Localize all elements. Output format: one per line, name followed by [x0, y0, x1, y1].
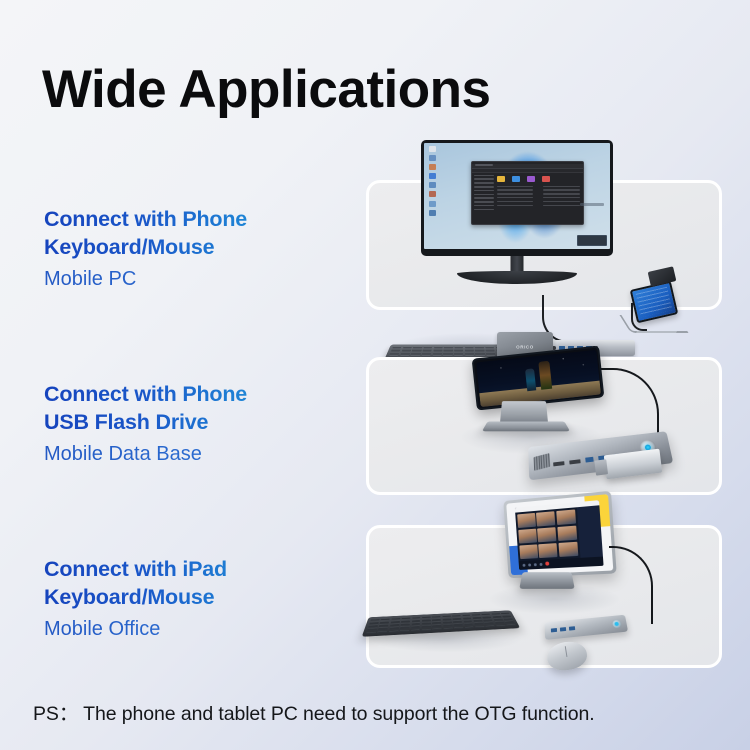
application-2-headline-line2: USB Flash Drive: [44, 408, 354, 436]
participant-tile: [557, 525, 577, 541]
system-tray-popup: [577, 235, 607, 246]
application-3-headline-line1: Connect with iPad: [44, 555, 354, 583]
application-3-subtitle: Mobile Office: [44, 614, 354, 644]
application-image-1: [366, 180, 722, 310]
participant-tile: [519, 544, 538, 559]
explorer-content: [494, 173, 583, 225]
application-1-headline-line2: Keyboard/Mouse: [44, 233, 354, 261]
explorer-sidebar: [472, 173, 494, 225]
orico-logo: ORICO: [516, 345, 534, 350]
participant-tile: [536, 511, 555, 527]
scene-phone-flashdrive: ORICO: [369, 360, 719, 492]
application-1-headline-line1: Connect with Phone: [44, 205, 354, 233]
participant-tile: [537, 527, 556, 543]
participant-grid: [516, 507, 580, 561]
participant-tile: [558, 541, 578, 557]
application-text-2: Connect with Phone USB Flash Drive Mobil…: [44, 380, 354, 469]
application-image-2: ORICO: [366, 357, 722, 495]
file-list: [497, 186, 580, 209]
monitor-screen: [424, 143, 610, 249]
participant-tile: [556, 509, 576, 525]
window-body: [472, 173, 583, 225]
scene-ipad-office: [369, 528, 719, 665]
application-image-3: [366, 525, 722, 668]
application-3-headline-line2: Keyboard/Mouse: [44, 583, 354, 611]
monitor-base: [457, 271, 577, 284]
hub-indicator-light: [612, 620, 621, 628]
usb-c-cable: [609, 546, 653, 624]
chat-panel: [577, 505, 602, 557]
astronaut-right: [539, 360, 553, 389]
ipad-stand: [519, 572, 574, 589]
ipad-screen: [506, 494, 613, 575]
phone-stand: [619, 271, 687, 341]
stand-clip: [648, 266, 677, 286]
ipad: [503, 491, 616, 578]
page-title: Wide Applications: [42, 62, 490, 118]
folder-icons: [497, 176, 580, 182]
application-text-1: Connect with Phone Keyboard/Mouse Mobile…: [44, 205, 354, 294]
mouse: [545, 639, 589, 673]
phone-stand-base: [482, 421, 570, 431]
application-2-subtitle: Mobile Data Base: [44, 439, 354, 469]
video-conference-app: [515, 500, 603, 569]
application-1-subtitle: Mobile PC: [44, 264, 354, 294]
monitor: [421, 140, 613, 256]
phone-screen-space-scene: [475, 349, 600, 406]
application-text-3: Connect with iPad Keyboard/Mouse Mobile …: [44, 555, 354, 644]
watermark: [580, 203, 604, 206]
participant-tile: [517, 513, 536, 529]
application-2-headline-line1: Connect with Phone: [44, 380, 354, 408]
hub-vent: [534, 453, 551, 471]
participant-tile: [539, 543, 558, 559]
footer-note: PS： The phone and tablet PC need to supp…: [33, 697, 595, 726]
usb-c-hub: [545, 615, 628, 640]
astronaut-left: [525, 368, 536, 391]
file-explorer-window: [471, 161, 584, 225]
scene-monitor-setup: [369, 183, 719, 307]
desktop-icons: [427, 146, 440, 219]
participant-tile: [518, 528, 537, 544]
